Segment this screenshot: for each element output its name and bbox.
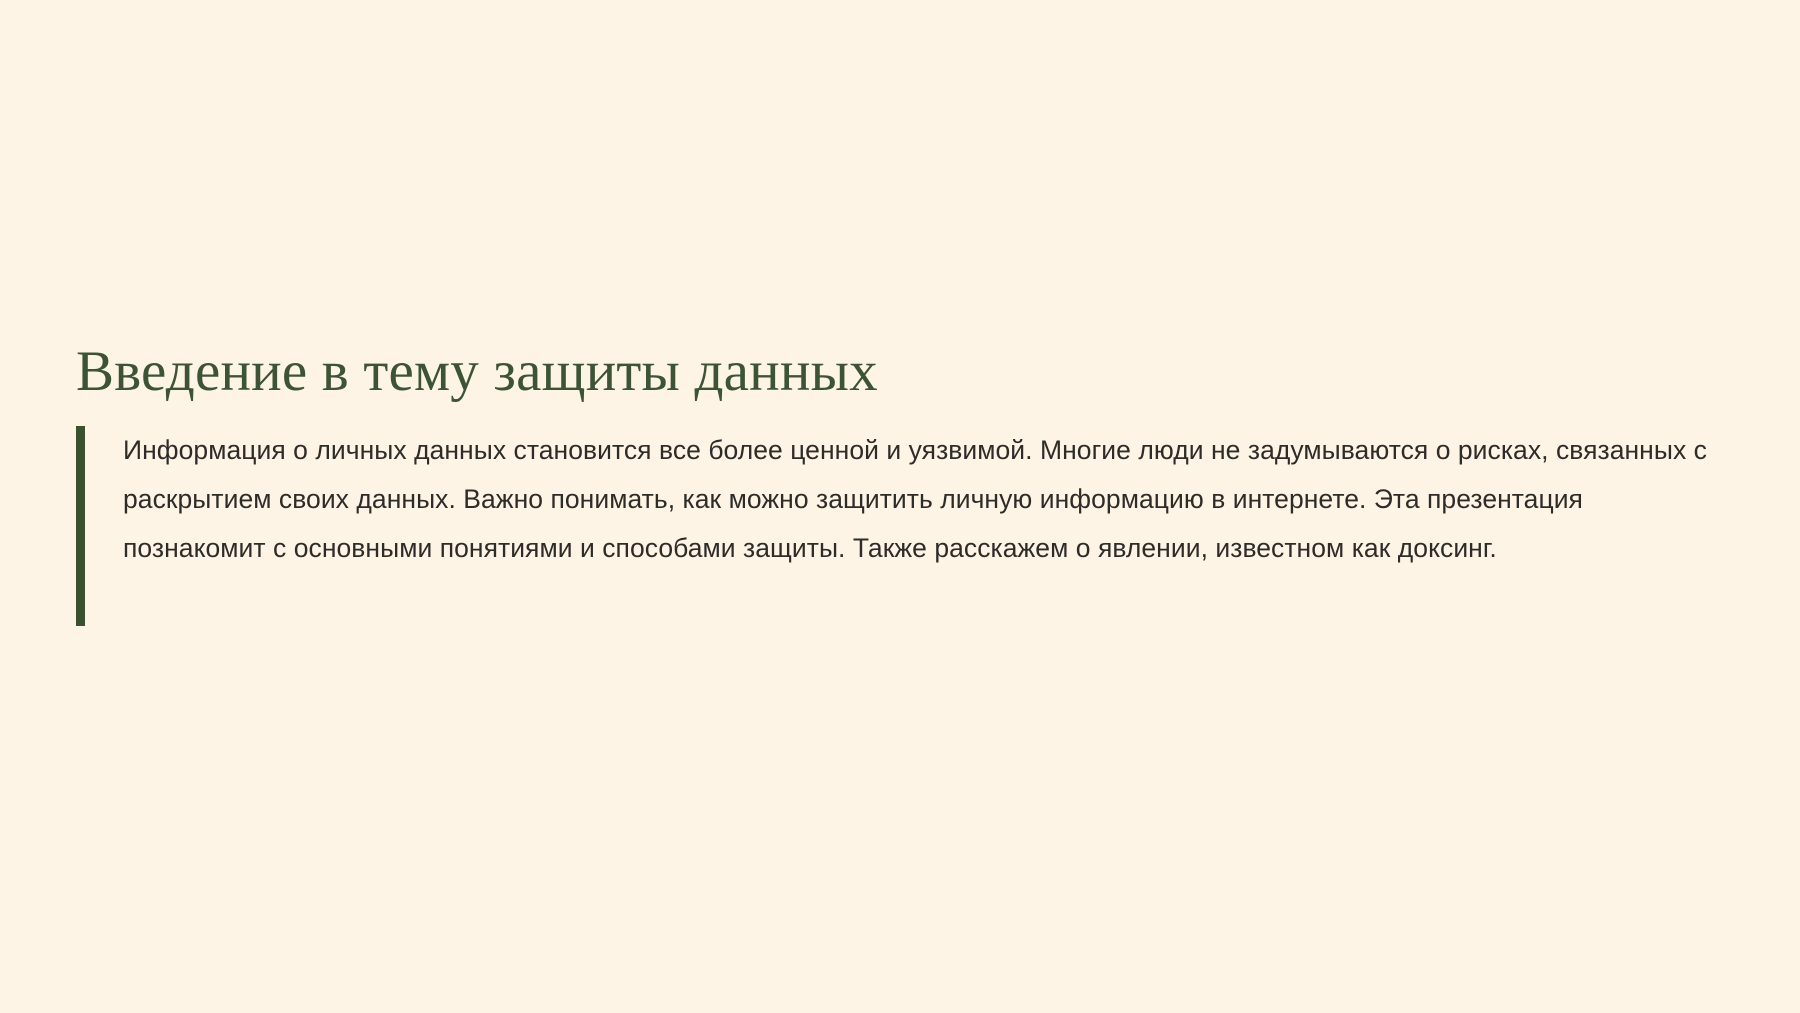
accent-bar xyxy=(76,426,85,626)
page-title: Введение в тему защиты данных xyxy=(76,340,1736,404)
presentation-slide: Введение в тему защиты данных Информация… xyxy=(0,0,1800,1013)
body-paragraph: Информация о личных данных становится вс… xyxy=(85,426,1723,626)
body-paragraph-text: Информация о личных данных становится вс… xyxy=(123,426,1723,573)
body-quote-block: Информация о личных данных становится вс… xyxy=(76,426,1736,626)
slide-content-area: Введение в тему защиты данных Информация… xyxy=(76,340,1736,626)
